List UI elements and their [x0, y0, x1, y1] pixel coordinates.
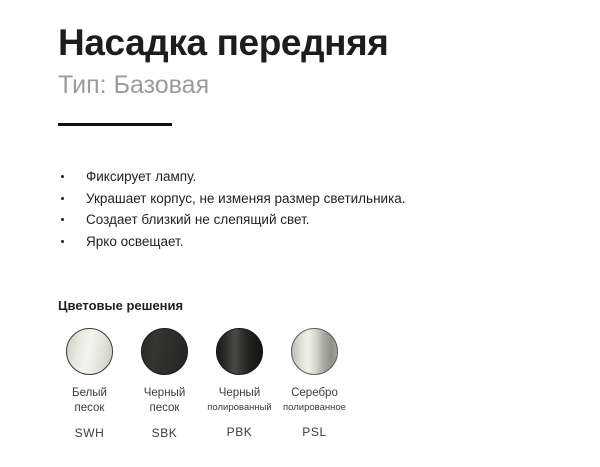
bullet-icon	[61, 197, 64, 200]
bullet-icon	[61, 240, 64, 243]
color-code: SWH	[75, 426, 105, 441]
color-option-swh[interactable]: Белый песок SWH	[52, 328, 127, 441]
feature-text: Создает близкий не слепящий свет.	[86, 212, 310, 227]
color-name-line2: полированное	[283, 401, 346, 415]
color-swatch-black-sand-icon[interactable]	[141, 328, 188, 375]
page-subtitle: Тип: Базовая	[58, 70, 558, 100]
color-name-line1: Серебро	[283, 386, 346, 401]
color-name: Серебро полированное	[283, 386, 346, 415]
color-name-line2: песок	[72, 401, 107, 416]
list-item: Создает близкий не слепящий свет.	[58, 209, 528, 231]
color-name: Черный песок	[144, 386, 186, 416]
color-option-sbk[interactable]: Черный песок SBK	[127, 328, 202, 441]
list-item: Фиксирует лампу.	[58, 166, 528, 188]
feature-list: Фиксирует лампу. Украшает корпус, не изм…	[58, 166, 528, 252]
product-spec-sheet: Насадка передняя Тип: Базовая Фиксирует …	[0, 0, 600, 467]
list-item: Украшает корпус, не изменяя размер свети…	[58, 188, 528, 210]
colors-section-heading: Цветовые решения	[58, 298, 183, 313]
color-name-line2: песок	[144, 401, 186, 416]
color-option-pbk[interactable]: Черный полированный PBK	[202, 328, 277, 441]
list-item: Ярко освещает.	[58, 231, 528, 253]
feature-text: Украшает корпус, не изменяя размер свети…	[86, 191, 406, 206]
color-swatch-row: Белый песок SWH Черный песок SBK Черный …	[52, 328, 352, 441]
bullet-icon	[61, 218, 64, 221]
color-name: Белый песок	[72, 386, 107, 416]
color-code: PBK	[227, 425, 253, 440]
color-swatch-black-polished-icon[interactable]	[216, 328, 263, 375]
page-title: Насадка передняя	[58, 22, 558, 64]
color-name-line1: Черный	[207, 386, 272, 401]
color-swatch-white-sand-icon[interactable]	[66, 328, 113, 375]
title-divider	[58, 123, 172, 126]
bullet-icon	[61, 175, 64, 178]
color-name-line2: полированный	[207, 401, 272, 415]
color-swatch-silver-polished-icon[interactable]	[291, 328, 338, 375]
color-option-psl[interactable]: Серебро полированное PSL	[277, 328, 352, 441]
feature-text: Фиксирует лампу.	[86, 169, 196, 184]
color-code: PSL	[302, 425, 326, 440]
color-name-line1: Белый	[72, 386, 107, 401]
color-name: Черный полированный	[207, 386, 272, 415]
header: Насадка передняя Тип: Базовая	[58, 22, 558, 100]
color-name-line1: Черный	[144, 386, 186, 401]
color-code: SBK	[152, 426, 178, 441]
feature-text: Ярко освещает.	[86, 234, 183, 249]
